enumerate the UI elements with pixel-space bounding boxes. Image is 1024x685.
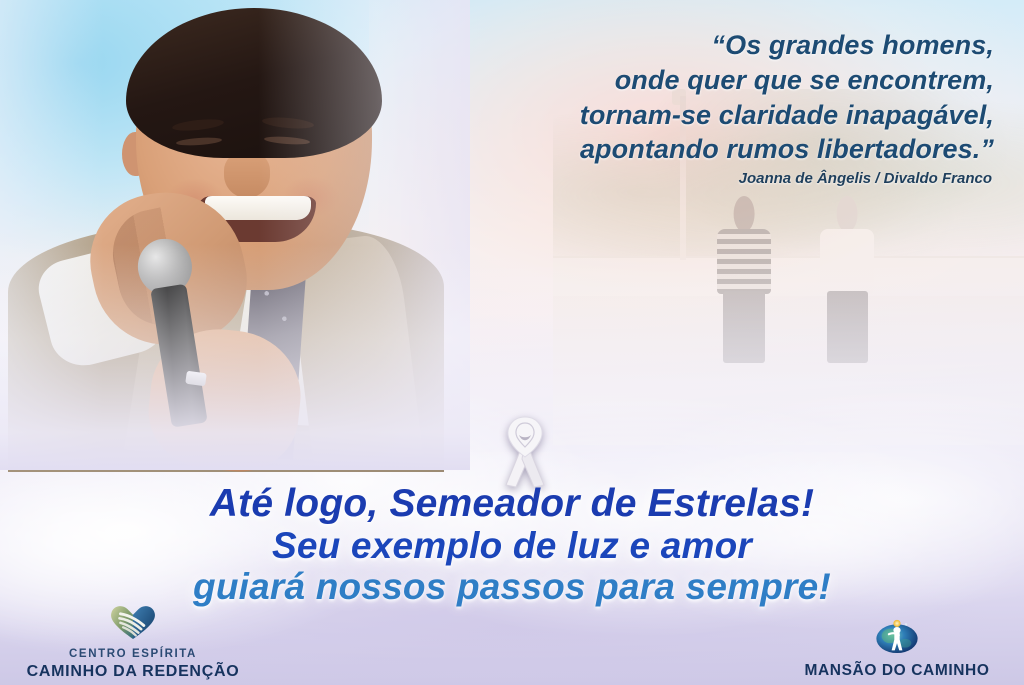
mourning-ribbon-icon (492, 413, 558, 489)
quote-attribution: Joanna de Ângelis / Divaldo Franco (432, 170, 992, 187)
memorial-message: Até logo, Semeador de Estrelas! Seu exem… (0, 483, 1024, 608)
quote-line-4: apontando rumos libertadores.” (434, 132, 994, 167)
background-ground (553, 296, 1024, 446)
portrait-photo (0, 0, 470, 470)
logo-mansao-do-caminho: MANSÃO DO CAMINHO (782, 616, 1012, 681)
logo-left-caption-top: CENTRO ESPÍRITA (8, 647, 258, 661)
person-legs (827, 291, 869, 363)
person-torso (820, 229, 874, 295)
message-line-1: Até logo, Semeador de Estrelas! (0, 483, 1024, 525)
ring (185, 371, 207, 387)
quote-line-1: “Os grandes homens, (434, 28, 994, 63)
message-line-2: Seu exemplo de luz e amor (0, 525, 1024, 566)
logo-left-caption-bottom: CAMINHO DA REDENÇÃO (8, 662, 258, 681)
nose (224, 152, 270, 198)
logo-right-caption-bottom: MANSÃO DO CAMINHO (782, 662, 1012, 681)
quote-line-2: onde quer que se encontrem, (434, 63, 994, 98)
person-legs (723, 291, 765, 363)
person-head (837, 196, 858, 232)
background-person-striped (713, 196, 774, 360)
hair (126, 8, 382, 158)
background-wall (553, 256, 1024, 302)
quote-line-3: tornam-se claridade inapagável, (434, 98, 994, 133)
globe-figure-icon (782, 616, 1012, 661)
memorial-poster: “Os grandes homens, onde quer que se enc… (0, 0, 1024, 685)
quote-text: “Os grandes homens, onde quer que se enc… (434, 28, 994, 167)
logo-centro-espirita: CENTRO ESPÍRITA CAMINHO DA REDENÇÃO (8, 601, 258, 681)
person-torso (717, 229, 771, 295)
background-person-white (817, 196, 878, 360)
person-head (733, 196, 754, 232)
hands-heart-icon (8, 601, 258, 646)
